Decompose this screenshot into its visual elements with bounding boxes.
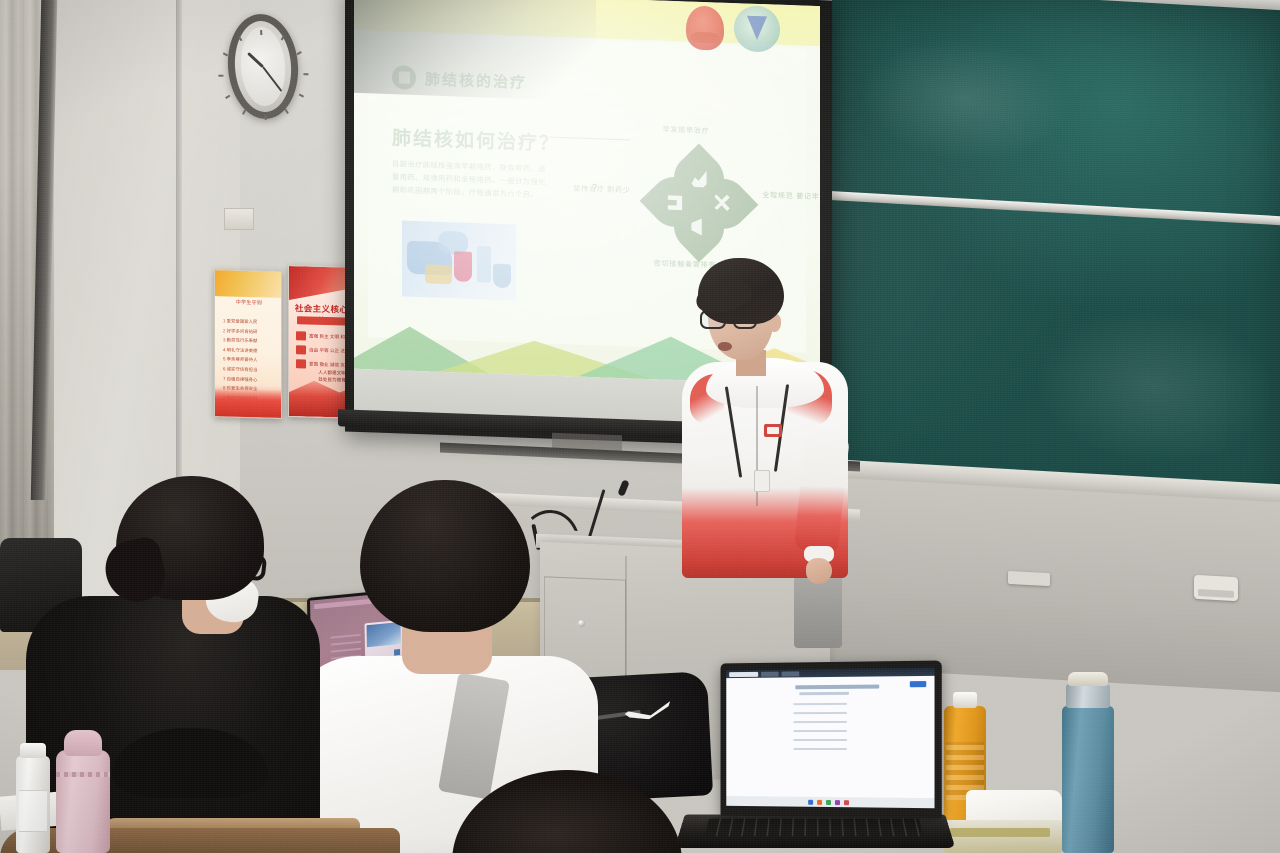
- taskbar-icon[interactable]: [817, 799, 822, 804]
- poster-title: 中学生守则: [221, 298, 277, 308]
- document-subheading: [800, 692, 850, 695]
- thermos-ring: [56, 772, 110, 777]
- document-heading: [795, 685, 879, 690]
- clock-tick: [303, 73, 308, 75]
- clock-face: [239, 27, 287, 107]
- presenter-legs: [794, 576, 842, 648]
- poster-row-badge: [296, 345, 306, 354]
- food-box-strip: [950, 828, 1050, 837]
- communist-youth-league-emblem: [686, 5, 724, 50]
- browser-tab-bar[interactable]: [726, 668, 934, 678]
- poster-row-words: 爱国 敬业 诚信 友善: [309, 361, 350, 368]
- chalk-eraser: [1008, 571, 1050, 586]
- browser-tab[interactable]: [761, 671, 779, 676]
- photo-shape: [477, 246, 491, 283]
- screen-shadow: [354, 0, 596, 102]
- four-leaf-clover-diagram: [650, 152, 748, 255]
- chalk-smudge: [1034, 302, 1273, 472]
- poster-header-band: [215, 270, 281, 298]
- wall-panel-box: [224, 208, 254, 230]
- medicine-box-icon: [667, 193, 684, 211]
- slide-lab-photo: [400, 218, 518, 302]
- windows-taskbar[interactable]: [726, 796, 934, 808]
- laptop-right-screen[interactable]: [726, 668, 934, 809]
- taskbar-icon[interactable]: [844, 800, 849, 805]
- poster-row-badge: [296, 331, 306, 340]
- health-commission-emblem: [734, 5, 780, 53]
- clock-tick: [218, 75, 223, 77]
- laptop-right-keyboard[interactable]: [705, 819, 924, 837]
- thermos-cap: [64, 730, 102, 756]
- slide-paragraph: 目前治疗肺结核强调早期用药、联合用药、适量用药、规律用药和全程用药。一般分为强化…: [392, 157, 547, 201]
- poster-footer-band: [215, 388, 281, 418]
- student-front-row: [452, 770, 682, 853]
- photo-shape: [493, 263, 511, 288]
- student-c-hair: [452, 770, 682, 853]
- presenter-hand: [806, 558, 832, 584]
- wall-seam: [176, 0, 182, 500]
- screen-blue-chip: [910, 681, 926, 687]
- id-badge: [754, 470, 770, 492]
- poster-row-words: 富强 民主 文明 和谐: [309, 333, 350, 340]
- taskbar-icon[interactable]: [826, 799, 831, 804]
- laptop-right-lid: [721, 660, 942, 818]
- clock-tick: [260, 30, 262, 35]
- green-chalkboard: [832, 0, 1280, 525]
- clock-tick: [238, 36, 242, 41]
- clock-tick: [281, 35, 285, 40]
- food-box: [944, 820, 1062, 853]
- laptop-right[interactable]: [672, 660, 960, 853]
- bottle-label: [19, 790, 47, 832]
- thermos-blue: [1062, 706, 1114, 853]
- browser-tab[interactable]: [782, 671, 800, 676]
- student-a-hood: [112, 728, 268, 798]
- bottle-cap: [20, 743, 46, 758]
- presenter-mouth: [718, 342, 732, 351]
- document-body-lines: [793, 703, 847, 757]
- clock-hour-hand: [247, 52, 264, 68]
- megaphone-icon: [691, 218, 708, 236]
- thermos-cap: [1068, 672, 1108, 686]
- presenting-student: [676, 258, 856, 588]
- hoodie-chest-logo: [764, 424, 782, 437]
- classroom-photo: 中学生守则 1 爱党爱国爱人民 2 好学多问肯钻研 3 勤劳笃行乐奉献 4 明礼…: [0, 0, 1280, 853]
- photo-shape: [454, 251, 471, 282]
- poster-student-code: 中学生守则 1 爱党爱国爱人民 2 好学多问肯钻研 3 勤劳笃行乐奉献 4 明礼…: [214, 269, 282, 419]
- clock-minute-hand: [262, 66, 282, 91]
- chalk-eraser: [1194, 575, 1238, 601]
- taskbar-icon[interactable]: [835, 800, 840, 805]
- clock-tick: [265, 115, 267, 120]
- diagram-question-mark: ?: [592, 182, 597, 192]
- taskbar-icon[interactable]: [808, 799, 813, 804]
- student-b-hair: [360, 480, 530, 632]
- chalk-smudge: [860, 31, 1072, 168]
- browser-tab-active[interactable]: [729, 671, 758, 676]
- laptop-right-base[interactable]: [675, 814, 956, 847]
- thermos-neck: [1066, 684, 1110, 708]
- thermos-pink: [56, 750, 110, 853]
- poster-row-words: 自由 平等 公正 法治: [309, 347, 350, 354]
- poster-row-badge: [296, 359, 306, 368]
- bottle-white: [16, 756, 50, 853]
- photo-shape: [425, 264, 452, 285]
